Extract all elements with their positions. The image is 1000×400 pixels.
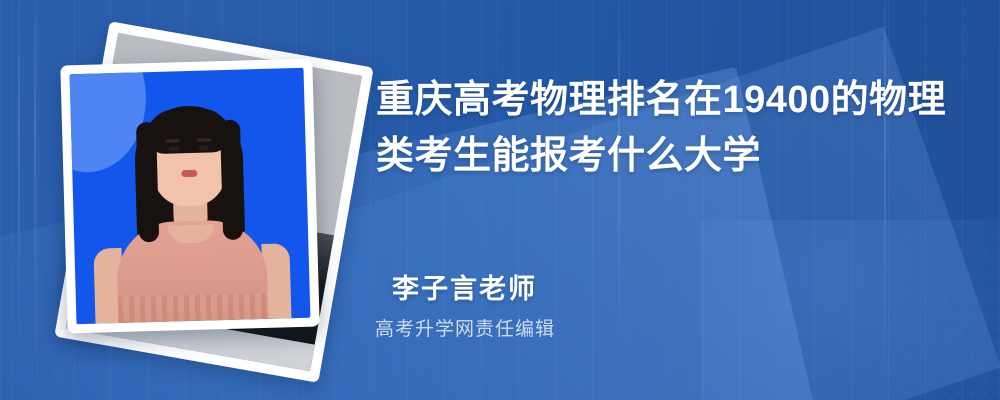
author-photo-stack <box>52 36 352 366</box>
author-avatar-card <box>60 59 319 334</box>
avatar-figure-illustration <box>70 68 311 324</box>
author-name: 李子言老师 <box>392 272 812 306</box>
article-cover-banner: 重庆高考物理排名在19400的物理 类考生能报考什么大学 李子言老师 高考升学网… <box>0 0 1000 400</box>
headline-block: 重庆高考物理排名在19400的物理 类考生能报考什么大学 <box>376 72 956 184</box>
avatar-eye-right <box>199 145 209 150</box>
avatar-hair-fringe <box>147 107 230 153</box>
avatar <box>70 68 311 324</box>
page-title: 重庆高考物理排名在19400的物理 类考生能报考什么大学 <box>376 72 956 184</box>
avatar-eyebrow-right <box>197 138 211 141</box>
avatar-lips <box>181 170 197 177</box>
byline-block: 李子言老师 高考升学网责任编辑 <box>392 272 812 342</box>
avatar-eye-left <box>169 146 179 151</box>
author-role: 高考升学网责任编辑 <box>375 318 812 342</box>
avatar-eyebrow-left <box>165 139 179 142</box>
